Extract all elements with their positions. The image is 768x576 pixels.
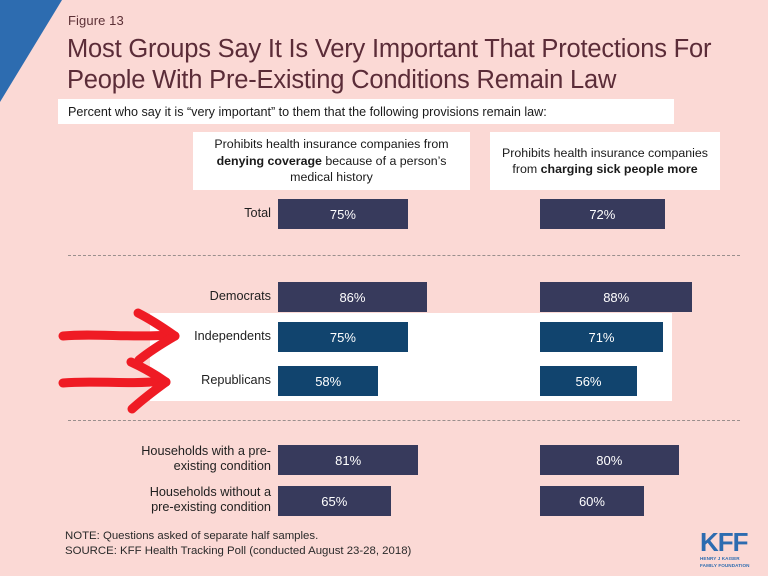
- column-header-denying-coverage: Prohibits health insurance companies fro…: [193, 132, 470, 190]
- bar-denying-coverage: 75%: [278, 322, 408, 352]
- page-title: Most Groups Say It Is Very Important Tha…: [67, 34, 757, 96]
- figure-label: Figure 13: [68, 13, 124, 28]
- bar-denying-coverage: 65%: [278, 486, 391, 516]
- note-line: NOTE: Questions asked of separate half s…: [65, 529, 411, 544]
- bar-value-label: 81%: [335, 453, 361, 468]
- kff-sub-line-1: HENRY J KAISER: [700, 556, 762, 562]
- col1-bold: denying coverage: [217, 154, 322, 168]
- kff-sub-line-2: FAMILY FOUNDATION: [700, 563, 762, 569]
- bar-value-label: 75%: [330, 330, 356, 345]
- corner-triangle-decoration: [0, 0, 62, 102]
- bar-charging-sick-more: 88%: [540, 282, 692, 312]
- subtitle-text: Percent who say it is “very important” t…: [58, 105, 547, 119]
- bar-value-label: 71%: [588, 330, 614, 345]
- section-divider-top: [68, 255, 740, 256]
- bar-charging-sick-more: 71%: [540, 322, 663, 352]
- bar-value-label: 80%: [596, 453, 622, 468]
- bar-value-label: 75%: [330, 207, 356, 222]
- bar-value-label: 56%: [575, 374, 601, 389]
- row-label-total: Total: [71, 206, 271, 221]
- kff-wordmark: KFF: [700, 529, 762, 555]
- bar-value-label: 58%: [315, 374, 341, 389]
- row-label-households-without-a-pre-existing-condition: Households without apre-existing conditi…: [71, 485, 271, 515]
- bar-charging-sick-more: 56%: [540, 366, 637, 396]
- row-label-republicans: Republicans: [71, 373, 271, 388]
- bar-denying-coverage: 75%: [278, 199, 408, 229]
- row-label-democrats: Democrats: [71, 289, 271, 304]
- bar-denying-coverage: 86%: [278, 282, 427, 312]
- bar-charging-sick-more: 80%: [540, 445, 679, 475]
- col2-bold: charging sick people more: [541, 162, 698, 176]
- bar-value-label: 72%: [589, 207, 615, 222]
- subtitle-banner: Percent who say it is “very important” t…: [58, 99, 674, 124]
- bar-value-label: 65%: [321, 494, 347, 509]
- row-label-independents: Independents: [71, 329, 271, 344]
- bar-denying-coverage: 81%: [278, 445, 418, 475]
- bar-value-label: 88%: [603, 290, 629, 305]
- source-line: SOURCE: KFF Health Tracking Poll (conduc…: [65, 544, 411, 559]
- column-header-charging-sick-more: Prohibits health insurance companies fro…: [490, 132, 720, 190]
- col1-pre: Prohibits health insurance companies fro…: [214, 137, 448, 151]
- bar-value-label: 86%: [339, 290, 365, 305]
- bar-value-label: 60%: [579, 494, 605, 509]
- kff-logo: KFF HENRY J KAISER FAMILY FOUNDATION: [700, 529, 762, 569]
- footnotes: NOTE: Questions asked of separate half s…: [65, 529, 411, 559]
- bar-denying-coverage: 58%: [278, 366, 378, 396]
- section-divider-bottom: [68, 420, 740, 421]
- bar-charging-sick-more: 72%: [540, 199, 665, 229]
- bar-charging-sick-more: 60%: [540, 486, 644, 516]
- row-label-households-with-a-pre-existing-condition: Households with a pre-existing condition: [71, 444, 271, 474]
